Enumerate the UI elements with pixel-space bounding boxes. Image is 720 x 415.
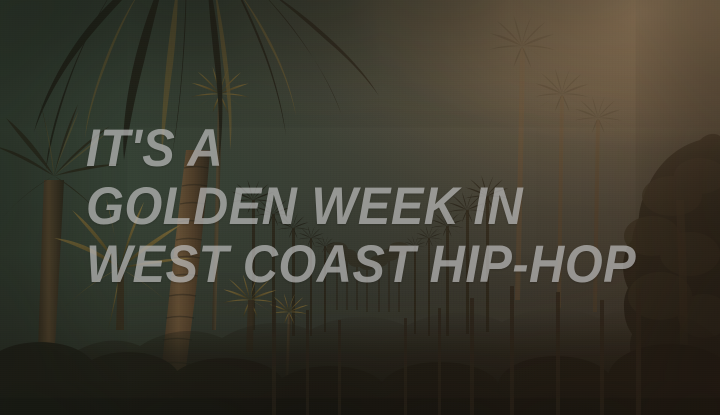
headline-line-3: WEST COAST HIP-HOP (86, 236, 636, 294)
headline: IT'S A GOLDEN WEEK IN WEST COAST HIP-HOP (86, 120, 684, 294)
hero-banner: IT'S A GOLDEN WEEK IN WEST COAST HIP-HOP (0, 0, 720, 415)
headline-line-1: IT'S A (86, 120, 636, 178)
headline-line-2: GOLDEN WEEK IN (86, 178, 636, 236)
